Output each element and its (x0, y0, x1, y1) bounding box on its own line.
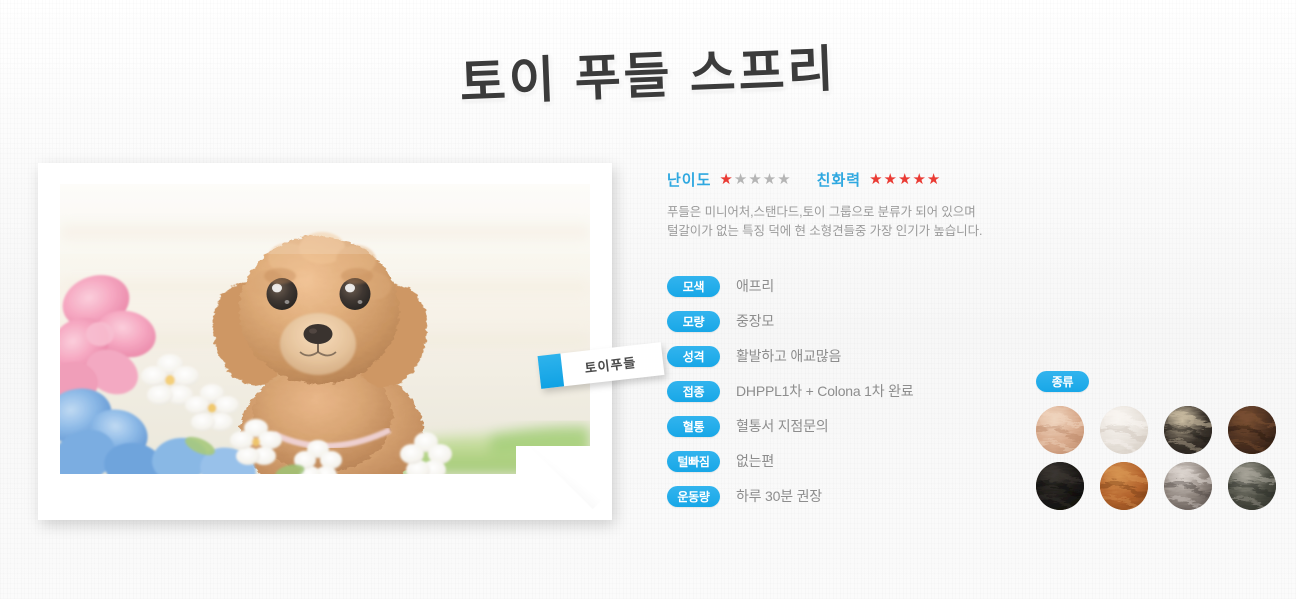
attribute-value: 하루 30분 권장 (736, 486, 822, 506)
attribute-row-pedigree: 혈통 혈통서 지점문의 (667, 409, 1067, 444)
attribute-row-shedding: 털빠짐 없는편 (667, 444, 1067, 479)
coat-swatch-apricot[interactable] (1036, 406, 1084, 454)
attribute-row-vaccination: 접종 DHPPL1차 + Colona 1차 완료 (667, 374, 1067, 409)
rating-friendliness-stars: ★ ★ ★ ★ ★ (869, 172, 940, 187)
attribute-value: DHPPL1차 + Colona 1차 완료 (736, 381, 913, 401)
attribute-label-badge: 모색 (667, 276, 720, 297)
star-1: ★ (719, 172, 732, 187)
star-2: ★ (734, 172, 747, 187)
star-1: ★ (869, 172, 882, 187)
coat-swatch-parti-black-blonde[interactable] (1164, 406, 1212, 454)
ribbon-label: 토이푸들 (561, 349, 664, 379)
attribute-label-badge: 혈통 (667, 416, 720, 437)
coat-swatch-grid (1036, 406, 1276, 510)
coat-swatch-dark-brown[interactable] (1228, 406, 1276, 454)
coat-swatch-silver-grey[interactable] (1164, 462, 1212, 510)
attribute-label-badge: 운동량 (667, 486, 720, 507)
coat-types-section: 종류 (1036, 371, 1276, 510)
attribute-row-exercise: 운동량 하루 30분 권장 (667, 479, 1067, 514)
types-label-badge: 종류 (1036, 371, 1089, 392)
star-3: ★ (748, 172, 761, 187)
coat-swatch-dark-olive-grey[interactable] (1228, 462, 1276, 510)
attribute-value: 활발하고 애교많음 (736, 346, 841, 366)
rating-friendliness: 친화력 ★ ★ ★ ★ ★ (817, 169, 941, 190)
attribute-value: 없는편 (736, 451, 774, 471)
attribute-row-coat-volume: 모량 중장모 (667, 304, 1067, 339)
rating-friendliness-label: 친화력 (817, 169, 861, 190)
attribute-label-badge: 접종 (667, 381, 720, 402)
rating-difficulty-stars: ★ ★ ★ ★ ★ (719, 172, 790, 187)
star-2: ★ (884, 172, 897, 187)
page-title: 토이 푸들 스프리 (0, 11, 1296, 133)
attribute-value: 혈통서 지점문의 (736, 416, 828, 436)
attribute-label-badge: 털빠짐 (667, 451, 720, 472)
coat-swatch-cream-white[interactable] (1100, 406, 1148, 454)
star-4: ★ (763, 172, 776, 187)
breed-detail-page: 토이 푸들 스프리 (0, 0, 1296, 599)
attribute-row-coat-color: 모색 애프리 (667, 269, 1067, 304)
attribute-label-badge: 모량 (667, 311, 720, 332)
rating-difficulty-label: 난이도 (667, 169, 711, 190)
photo-card[interactable] (38, 163, 612, 520)
ribbon-accent-block (538, 354, 565, 389)
ratings-row: 난이도 ★ ★ ★ ★ ★ 친화력 ★ ★ ★ ★ ★ (667, 168, 1067, 190)
attribute-value: 중장모 (736, 311, 774, 331)
coat-swatch-red-rust[interactable] (1100, 462, 1148, 510)
attribute-row-temperament: 성격 활발하고 애교많음 (667, 339, 1067, 374)
attribute-label-badge: 성격 (667, 346, 720, 367)
attribute-value: 애프리 (736, 276, 774, 296)
breed-info-panel: 난이도 ★ ★ ★ ★ ★ 친화력 ★ ★ ★ ★ ★ (667, 168, 1067, 514)
attribute-list: 모색 애프리 모량 중장모 성격 활발하고 애교많음 접종 DHPPL1차 + … (667, 269, 1067, 514)
breed-description: 푸들은 미니어처,스탠다드,토이 그룹으로 분류가 되어 있으며 털갈이가 없는… (667, 203, 1067, 242)
star-5: ★ (777, 172, 790, 187)
star-3: ★ (898, 172, 911, 187)
puppy-photo (60, 184, 590, 474)
rating-difficulty: 난이도 ★ ★ ★ ★ ★ (667, 169, 791, 190)
star-4: ★ (912, 172, 925, 187)
star-5: ★ (927, 172, 940, 187)
coat-swatch-black[interactable] (1036, 462, 1084, 510)
